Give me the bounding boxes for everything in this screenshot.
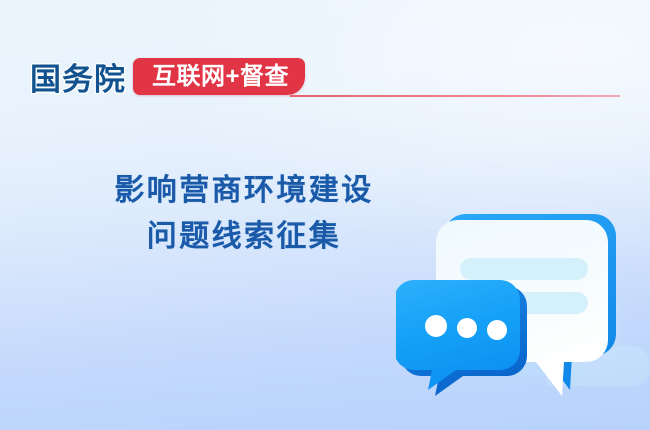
page-title-line-2: 问题线索征集 bbox=[74, 214, 414, 260]
typing-dot bbox=[457, 318, 477, 338]
header-logo-lockup: 国务院 互联网+督查 bbox=[0, 52, 650, 100]
page-title: 影响营商环境建设 问题线索征集 bbox=[74, 168, 414, 260]
typing-dot bbox=[487, 320, 507, 340]
typing-dot bbox=[425, 315, 447, 337]
front-chat-bubble bbox=[396, 280, 527, 396]
org-name-label: 国务院 bbox=[30, 52, 126, 100]
program-badge: 互联网+督查 bbox=[133, 58, 305, 95]
page-title-line-1: 影响营商环境建设 bbox=[74, 168, 414, 214]
bubble-text-bar bbox=[460, 258, 588, 280]
chat-bubbles-illustration bbox=[396, 196, 650, 408]
banner-root: 国务院 互联网+督查 影响营商环境建设 问题线索征集 bbox=[0, 0, 650, 430]
program-badge-label: 互联网+督查 bbox=[152, 65, 289, 89]
header-divider-rule bbox=[290, 95, 620, 97]
